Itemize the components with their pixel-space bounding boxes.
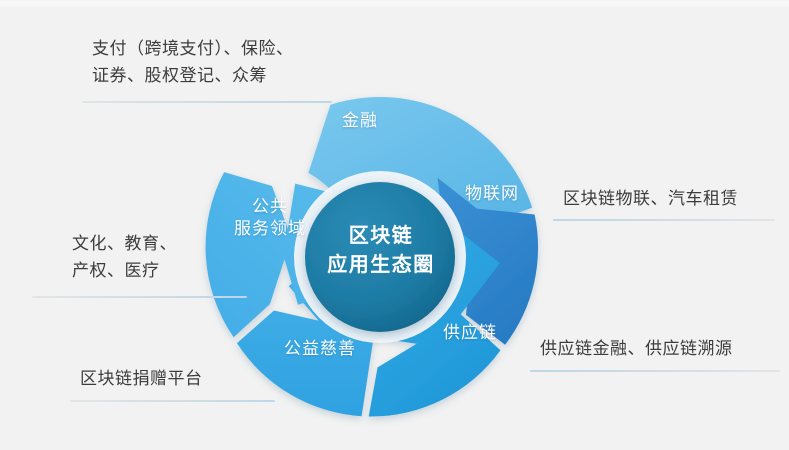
blockchain-ecosystem-diagram: 区块链 应用生态圈 金融 物联网 供应链 公益慈善 公共 服务领域 支付（跨境支… xyxy=(0,0,789,450)
annotation-finance: 支付（跨境支付）、保险、 证券、股权登记、众筹 xyxy=(92,36,294,90)
leader-line-charity xyxy=(70,400,275,402)
segment-label-iot: 物联网 xyxy=(437,183,547,205)
annotation-public-services: 文化、教育、 产权、医疗 xyxy=(72,231,177,285)
segment-label-charity: 公益慈善 xyxy=(255,338,385,360)
segment-label-public-services: 公共 服务领域 xyxy=(200,196,340,240)
leader-line-public-services xyxy=(32,296,247,298)
annotation-charity: 区块链捐赠平台 xyxy=(80,366,203,393)
segment-label-finance: 金融 xyxy=(300,110,420,132)
annotation-iot: 区块链物联、汽车租赁 xyxy=(563,186,738,213)
leader-line-finance xyxy=(82,101,332,103)
annotation-supply-chain: 供应链金融、供应链溯源 xyxy=(540,336,733,363)
segment-label-supply-chain: 供应链 xyxy=(415,322,525,344)
leader-line-supply-chain xyxy=(530,370,780,372)
leader-line-iot xyxy=(553,219,775,221)
